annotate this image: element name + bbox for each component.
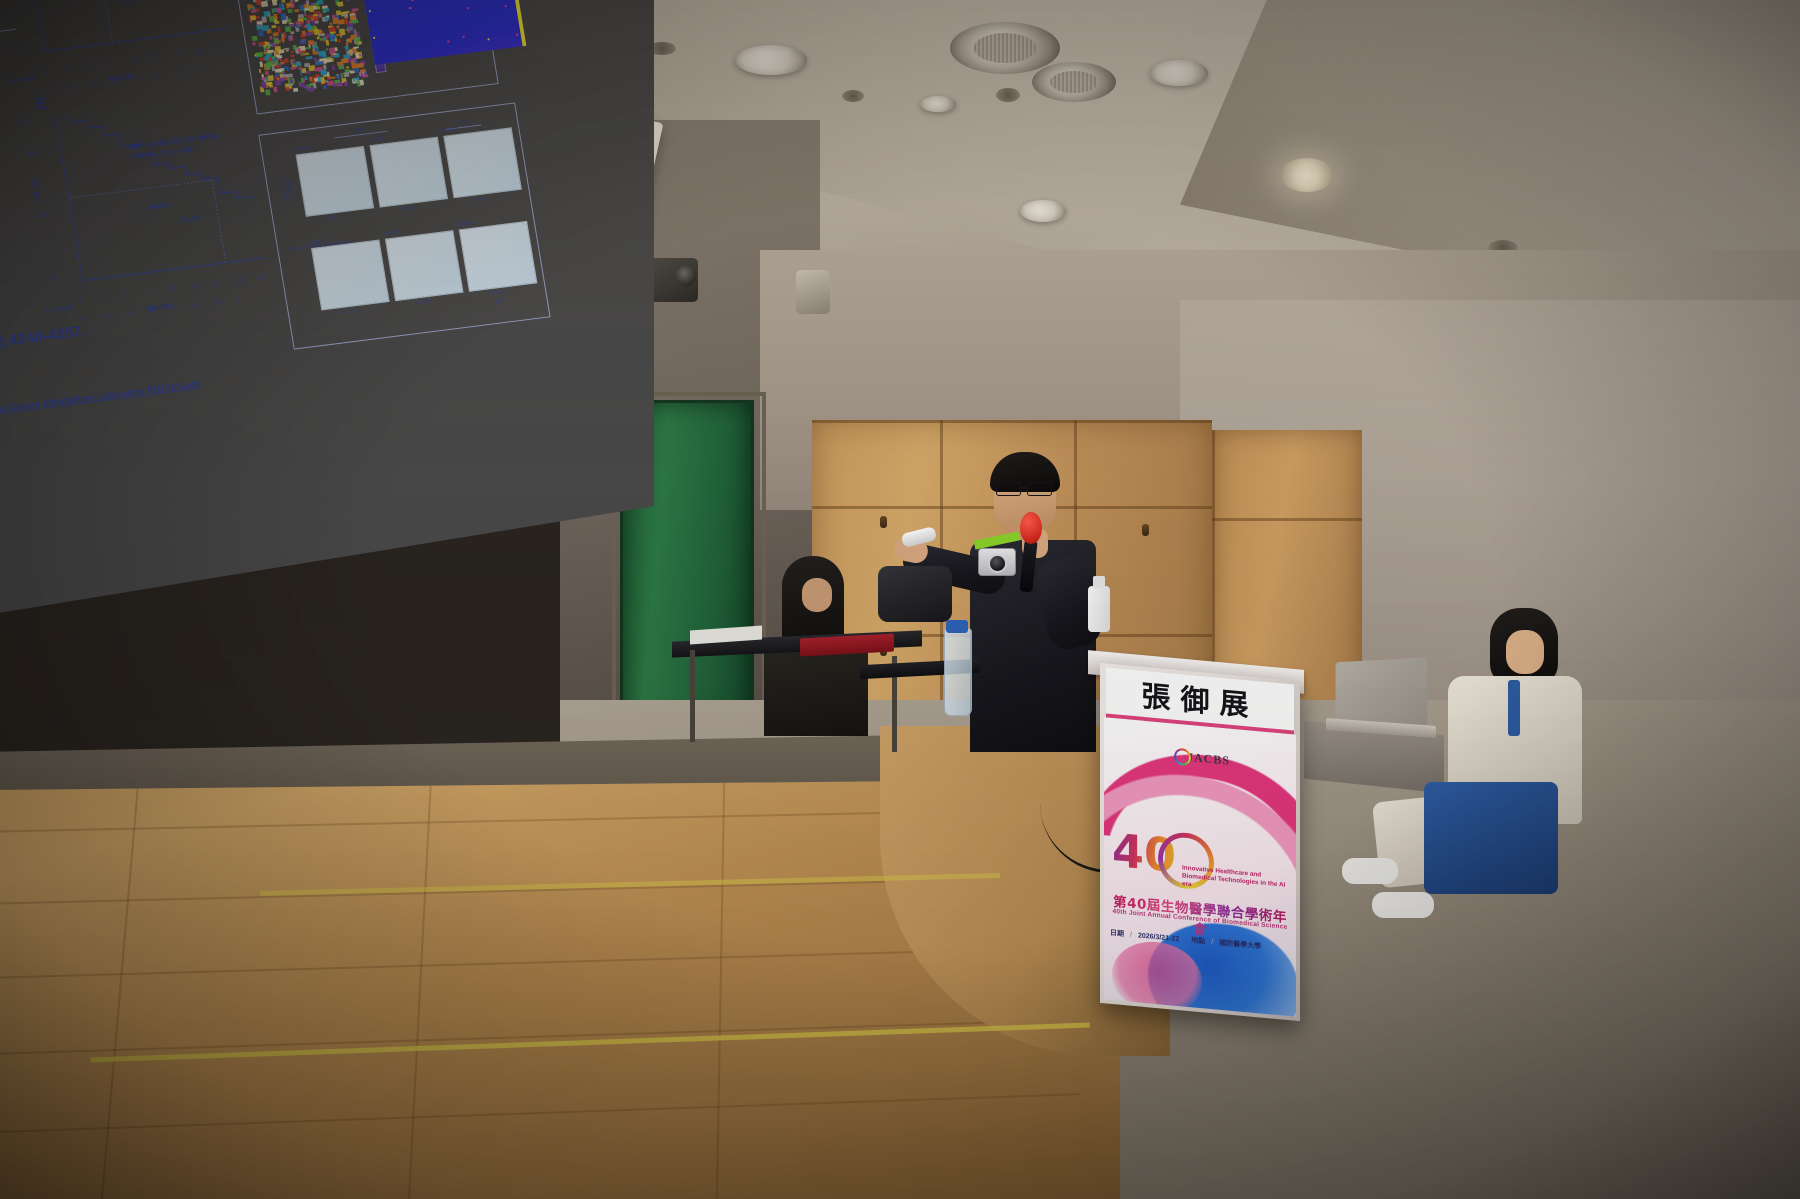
ceiling-speaker-icon: [1150, 60, 1208, 86]
ceiling-vent-icon: [1032, 62, 1116, 102]
cluster-tile: [272, 32, 279, 36]
attendee-shoe: [1372, 892, 1434, 918]
cluster-tile: [299, 82, 306, 87]
x-tick-label: 0: [80, 297, 85, 304]
heatmap-speckle: [369, 10, 371, 12]
slide-footer: ROCM Radiation Oncology and Cancer Metab…: [0, 365, 204, 446]
cluster-tile: [315, 48, 318, 53]
cluster-tile: [309, 77, 313, 82]
cluster-tile: [291, 3, 294, 7]
at-risk-value: 48: [43, 86, 51, 93]
ihc-sample-id: 001022: [384, 230, 400, 237]
cluster-tile: [288, 2, 291, 5]
cluster-tile: [320, 69, 326, 75]
date-label: 日期: [1110, 928, 1124, 939]
cluster-tile: [285, 77, 288, 80]
y-tick-label: 100: [19, 119, 31, 127]
cluster-tile: [322, 5, 327, 9]
cluster-tile: [358, 41, 362, 45]
spatial-cluster-map: [245, 0, 371, 99]
heatmap-speckle: [487, 38, 489, 40]
ihc-sample-id: 001008: [294, 145, 310, 152]
at-risk-value: 10: [214, 299, 222, 306]
cluster-tile: [266, 44, 269, 49]
ihc-shrinkage-value: -49.1%: [488, 289, 505, 297]
ihc-shrinkage-value: -43.4%: [398, 205, 415, 213]
sanitizer-pump-icon[interactable]: [1093, 576, 1105, 588]
cluster-tile: [306, 70, 310, 74]
cluster-tile: [306, 24, 312, 31]
cluster-tile: [294, 0, 298, 2]
cluster-tile: [253, 41, 257, 45]
ihc-sample-id: 001031: [458, 220, 474, 227]
ihc-shrinkage-value: -6.2%: [325, 215, 339, 222]
cabinet-knob-icon: [1142, 524, 1149, 536]
cluster-tile: [269, 36, 272, 40]
cluster-tile: [290, 79, 294, 83]
cluster-tile: [275, 65, 280, 68]
cluster-tile: [247, 5, 253, 9]
heatmap-speckle: [409, 7, 411, 9]
cluster-tile: [292, 60, 296, 64]
ceiling-speaker-icon: [920, 96, 956, 112]
cluster-tile: [332, 17, 339, 24]
heatmap-speckle: [516, 34, 518, 36]
cluster-tile: [287, 66, 290, 71]
slide-citation: Clin Cancer Res. 2022 Oct 3;28(19):4248-…: [0, 324, 87, 382]
cluster-tile: [355, 53, 360, 58]
at-risk-value: 39: [65, 84, 73, 91]
cluster-tile: [290, 0, 293, 2]
attendee-face: [1506, 630, 1544, 674]
podium: 張御展 JACBS 40 Innovative Healthcare and B…: [1100, 663, 1300, 1021]
cluster-tile: [306, 19, 311, 23]
pfs-kaplan-meier-chart: [12, 0, 235, 65]
cluster-tile: [317, 0, 323, 5]
cluster-tile: [313, 16, 318, 21]
ihc-sample-id: 001014: [310, 239, 326, 246]
cluster-tile: [271, 25, 276, 28]
ihc-image: [311, 239, 390, 310]
cluster-tile: [322, 85, 326, 90]
y-tick-label: 80: [27, 150, 35, 157]
cluster-tile: [294, 9, 300, 13]
ihc-image: [385, 230, 464, 301]
cluster-tile: [256, 24, 263, 30]
heatmap-speckle: [411, 0, 413, 2]
heatmap-speckle: [448, 40, 450, 42]
y-tick-label: 20: [5, 14, 13, 21]
y-tick-label: 20: [43, 244, 51, 251]
cluster-tile: [330, 35, 336, 40]
km-pfs-svg: [12, 0, 235, 65]
km-os-svg: [50, 95, 273, 294]
y-tick-label: 40: [38, 212, 46, 219]
x-tick-label: 3: [102, 295, 107, 302]
cluster-tile: [314, 67, 321, 71]
cluster-tile: [301, 40, 307, 44]
cluster-tile: [262, 25, 269, 31]
cluster-tile: [346, 66, 349, 69]
cluster-tile: [283, 32, 286, 37]
cluster-tile: [298, 66, 303, 70]
x-tick-label: 12: [130, 56, 138, 63]
x-tick-label: 18: [175, 51, 183, 58]
cluster-tile: [266, 62, 271, 69]
camera-lens-icon: [988, 554, 1007, 573]
cluster-tile: [285, 87, 289, 91]
cluster-tile: [315, 60, 319, 66]
cluster-tile: [280, 61, 284, 65]
cluster-tile: [276, 8, 280, 12]
cluster-tile: [309, 5, 314, 12]
cluster-tile: [344, 46, 348, 50]
cluster-tile: [305, 31, 312, 35]
heatmap-speckle: [373, 36, 375, 38]
x-tick-label: 24: [219, 45, 227, 52]
at-risk-value: 48: [81, 316, 89, 323]
x-tick-label: 18: [213, 280, 221, 287]
ihc-shrinkage-value: -44.9%: [414, 299, 431, 307]
cluster-tile: [271, 0, 277, 6]
cluster-tile: [337, 1, 343, 6]
ihc-image-grid: 001008-6.2%401008-43.4%001003-6.2%001014…: [294, 119, 545, 336]
cluster-tile: [353, 46, 359, 49]
laptop-screen[interactable]: [1336, 657, 1428, 728]
cluster-tile: [263, 11, 269, 16]
y-tick-label: 60: [33, 181, 41, 188]
speaker-name: 張御展: [1141, 673, 1258, 726]
cluster-tile: [273, 87, 276, 91]
heatmap-speckle: [462, 36, 464, 38]
ceiling-speaker-icon: [1020, 200, 1066, 222]
cluster-tile: [349, 70, 355, 74]
cluster-tile: [318, 14, 321, 18]
cluster-tile: [261, 1, 268, 7]
lab-name: Radiation Oncology and Cancer Metabolism…: [0, 379, 201, 427]
ihc-image: [459, 221, 538, 292]
at-risk-value: 2: [198, 67, 202, 74]
x-tick-label: 24: [257, 275, 265, 282]
x-tick-label: 6: [124, 292, 129, 299]
cluster-tile: [290, 66, 297, 69]
staff-face: [802, 578, 832, 612]
cluster-tile: [360, 80, 364, 86]
cluster-tile: [258, 41, 264, 46]
cluster-tile: [337, 39, 340, 42]
cluster-tile: [336, 25, 339, 28]
ihc-sample-id: 001003: [442, 127, 458, 134]
cluster-tile: [275, 59, 279, 65]
cluster-tile: [291, 51, 295, 53]
at-risk-value: 47: [103, 313, 111, 320]
cluster-tile: [265, 90, 270, 95]
cabinet-knob-icon: [880, 516, 887, 528]
ihc-image: [443, 127, 522, 198]
os-kaplan-meier-chart: [50, 95, 273, 294]
at-risk-value: 22: [110, 78, 118, 85]
slide-number: 27: [495, 297, 505, 306]
glasses-icon: [996, 482, 1052, 494]
cluster-tile: [287, 8, 293, 13]
cluster-tile: [313, 82, 317, 88]
lanyard-icon: [1508, 680, 1520, 736]
at-risk-value: 29: [87, 81, 95, 88]
cluster-tile: [362, 74, 369, 78]
cluster-tile: [278, 26, 281, 32]
conference-banner: JACBS 40 Innovative Healthcare and Biome…: [1104, 717, 1296, 1016]
at-risk-value: 4: [176, 70, 180, 77]
cluster-tile: [299, 17, 302, 19]
at-risk-value: 28: [170, 304, 178, 311]
table-leg: [690, 650, 695, 742]
panel-label-e: E: [35, 94, 49, 114]
cluster-tile: [327, 15, 330, 18]
y-tick-label: 0: [52, 275, 57, 282]
jacbs-wordmark: JACBS: [1187, 750, 1230, 768]
bottle-cap-icon: [946, 620, 968, 633]
cluster-tile: [355, 79, 359, 83]
audience-chair[interactable]: [1424, 782, 1558, 894]
cluster-tile: [295, 24, 299, 29]
x-tick-label: 9: [108, 60, 113, 67]
x-tick-label: 12: [168, 286, 176, 293]
cluster-tile: [261, 82, 266, 88]
water-bottle[interactable]: [944, 628, 972, 716]
at-risk-value: 38: [147, 307, 155, 314]
downlight-icon: [1280, 158, 1334, 192]
cluster-tile: [344, 13, 349, 18]
x-tick-label: 6: [86, 63, 91, 70]
cluster-tile: [293, 88, 298, 92]
cluster-tile: [360, 69, 366, 74]
venue-label: 地點: [1191, 935, 1205, 946]
cluster-tile: [290, 31, 294, 34]
pfs-risk-label: No at risk: [8, 75, 36, 85]
cluster-tile: [354, 30, 357, 35]
heatmap-speckle: [467, 7, 469, 9]
cluster-tile: [275, 46, 281, 51]
cluster-tile: [331, 58, 334, 62]
cluster-tile: [264, 52, 266, 55]
date-value: 2026/3/21-22: [1138, 932, 1179, 943]
x-tick-label: 15: [153, 54, 161, 61]
ceiling-hole-icon: [842, 90, 864, 102]
cluster-tile: [304, 63, 310, 68]
cluster-tile: [347, 23, 353, 27]
x-tick-label: 3: [64, 65, 69, 72]
ceiling-hole-icon: [996, 88, 1020, 102]
cluster-tile: [308, 40, 314, 45]
cluster-tile: [304, 13, 307, 17]
cluster-tile: [320, 30, 323, 35]
cluster-tile: [343, 72, 349, 78]
cluster-tile: [357, 63, 364, 68]
cluster-tile: [250, 16, 256, 21]
cluster-tile: [281, 14, 287, 21]
ihc-shrinkage-value: -6.2%: [472, 196, 486, 203]
cluster-tile: [332, 65, 336, 70]
at-risk-value: 43: [125, 310, 133, 317]
cluster-tile: [275, 80, 281, 86]
cluster-tile: [305, 76, 308, 80]
x-tick-label: 9: [146, 289, 151, 296]
cluster-tile: [275, 19, 277, 22]
cluster-tile: [288, 84, 294, 87]
cluster-tile: [326, 48, 328, 51]
attendee-shoe: [1342, 858, 1398, 884]
x-tick-label: 21: [235, 277, 243, 284]
cluster-tile: [267, 81, 272, 86]
cluster-tile: [288, 36, 291, 38]
cluster-tile: [305, 47, 311, 50]
lecture-hall-photo: udy reflects the response to immunothera…: [0, 0, 1800, 1199]
cluster-tile: [306, 56, 313, 59]
cluster-tile: [259, 69, 261, 73]
os-risk-label: No at risk: [46, 304, 74, 314]
at-risk-value: 8: [154, 73, 158, 80]
cluster-tile: [349, 49, 352, 52]
cluster-tile: [328, 27, 335, 32]
at-risk-value: 5: [236, 297, 240, 304]
cluster-tile: [300, 35, 305, 39]
x-tick-label: 15: [191, 283, 199, 290]
at-risk-value: 15: [192, 302, 200, 309]
at-risk-value: 19: [132, 75, 140, 82]
cluster-tile: [265, 71, 270, 75]
hand-sanitizer-bottle[interactable]: [1088, 586, 1110, 632]
cluster-tile: [252, 9, 257, 13]
cluster-tile: [285, 26, 292, 32]
cluster-tile: [256, 52, 263, 57]
cluster-tile: [345, 29, 348, 31]
cluster-tile: [336, 75, 340, 79]
cluster-tile: [325, 80, 328, 82]
ihc-shrinkage-value: -40.5%: [340, 308, 357, 316]
y-tick-label: 0: [14, 45, 19, 52]
cluster-tile: [344, 82, 348, 86]
office-chair[interactable]: [878, 566, 952, 622]
microphone-head-icon: [1020, 512, 1042, 544]
x-tick-label: 0: [42, 68, 47, 75]
ihc-sample-id: 401008: [368, 136, 384, 143]
cluster-tile: [303, 78, 306, 82]
ihc-image: [369, 137, 448, 208]
cluster-tile: [341, 58, 347, 64]
ihc-image: [296, 146, 375, 217]
slide-content-wrap: udy reflects the response to immunothera…: [0, 0, 670, 680]
heatmap-speckle: [504, 5, 506, 7]
x-tick-label: 21: [197, 48, 205, 55]
cluster-tile: [347, 0, 350, 1]
cluster-tile: [290, 54, 294, 58]
ceiling-vent-icon: [950, 22, 1060, 74]
cluster-tile: [332, 15, 335, 19]
